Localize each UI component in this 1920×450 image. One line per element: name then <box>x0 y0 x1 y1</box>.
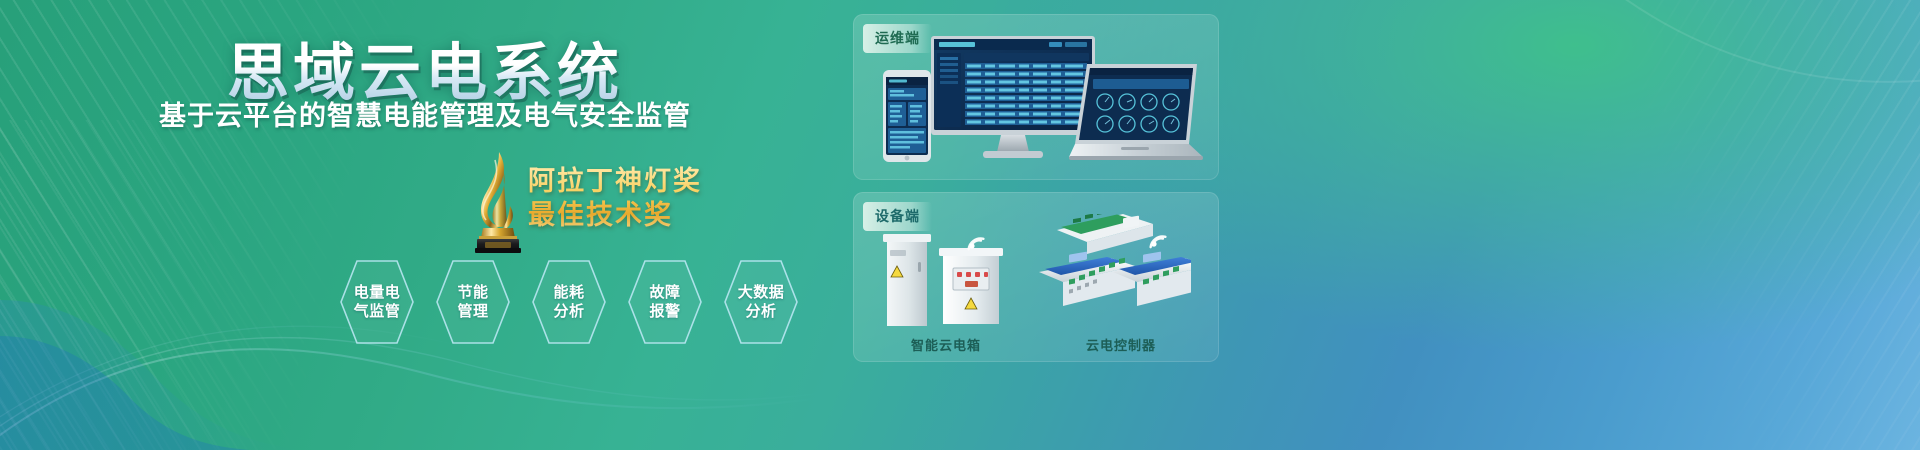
award-line-2: 最佳技术奖 <box>528 199 702 233</box>
device-caption-cabinet: 智能云电箱 <box>873 335 1019 354</box>
feature-badge-3-line1: 故障 <box>649 283 680 302</box>
feature-badge-1-line2: 管理 <box>457 302 488 321</box>
wifi-signal-icon-1 <box>961 226 991 257</box>
page-subtitle: 基于云平台的智慧电能管理及电气安全监管 <box>0 94 850 133</box>
panel-device: 设备端 <box>853 192 1219 362</box>
banner-right-panels: 运维端 <box>853 14 1913 436</box>
award-line-1: 阿拉丁神灯奖 <box>528 165 702 199</box>
feature-badge-0[interactable]: 电量电 气监管 <box>338 258 416 346</box>
feature-badge-2-line2: 分析 <box>553 302 584 321</box>
award-text-block: 阿拉丁神灯奖 最佳技术奖 <box>528 165 702 233</box>
panel-operations-tag: 运维端 <box>863 24 932 53</box>
feature-badge-2[interactable]: 能耗 分析 <box>530 258 608 346</box>
feature-badge-4-line2: 分析 <box>745 302 776 321</box>
feature-badge-2-line1: 能耗 <box>553 283 584 302</box>
feature-badge-3[interactable]: 故障 报警 <box>626 258 704 346</box>
feature-badge-4-line1: 大数据 <box>738 283 785 302</box>
feature-badge-0-line2: 气监管 <box>354 302 401 321</box>
smartphone-icon <box>883 70 931 167</box>
panel-operations: 运维端 <box>853 14 1219 180</box>
banner-left-content: 思域云电系统 基于云平台的智慧电能管理及电气安全监管 <box>0 0 850 450</box>
device-caption-controller: 云电控制器 <box>1043 335 1199 354</box>
feature-badge-3-line2: 报警 <box>649 302 680 321</box>
feature-badge-list: 电量电 气监管 节能 管理 能耗 分析 <box>338 258 850 348</box>
panel-device-tag: 设备端 <box>863 202 932 231</box>
laptop-icon <box>1069 62 1209 171</box>
wifi-signal-icon-2 <box>1143 224 1173 255</box>
feature-badge-0-line1: 电量电 <box>354 283 401 302</box>
feature-badge-1-line1: 节能 <box>457 283 488 302</box>
promo-banner: 思域云电系统 基于云平台的智慧电能管理及电气安全监管 <box>0 0 1920 450</box>
feature-badge-4[interactable]: 大数据 分析 <box>722 258 800 346</box>
electrical-cabinet-icon <box>881 232 1011 335</box>
trophy-icon <box>455 148 535 253</box>
feature-badge-1[interactable]: 节能 管理 <box>434 258 512 346</box>
